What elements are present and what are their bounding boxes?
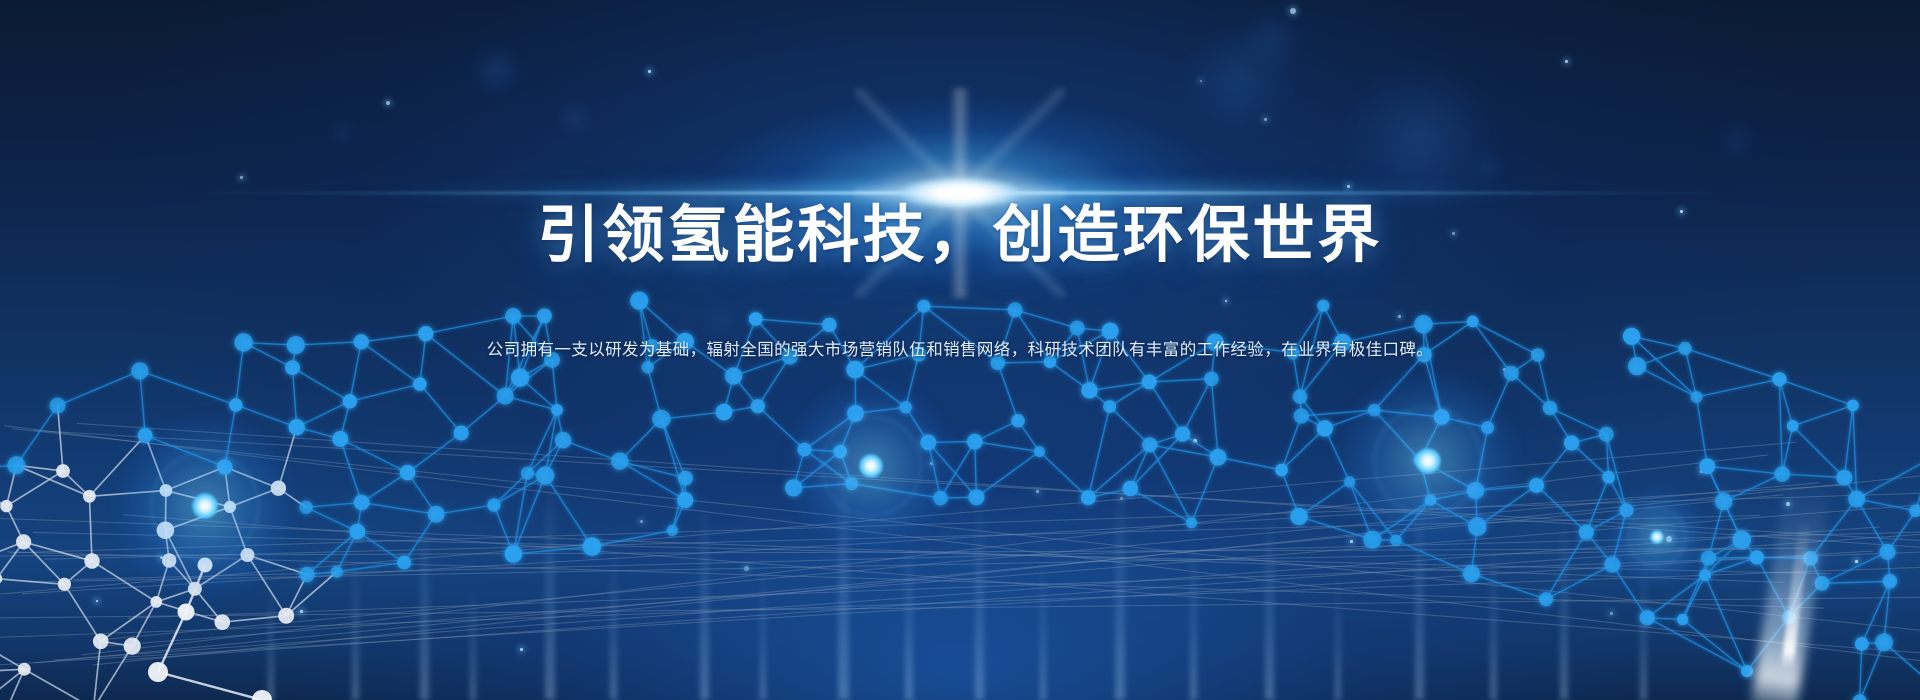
mesh-node xyxy=(1186,517,1197,528)
light-ray xyxy=(268,580,274,700)
mesh-node xyxy=(917,300,930,313)
mesh-line xyxy=(165,530,169,560)
mesh-line xyxy=(1192,457,1219,523)
mesh-line xyxy=(140,371,145,436)
mesh-node xyxy=(511,368,529,386)
mesh-line xyxy=(1857,499,1916,511)
mesh-line xyxy=(297,401,350,427)
mesh-line xyxy=(975,421,1018,442)
mesh-node xyxy=(1363,531,1381,549)
bokeh-blob xyxy=(560,104,590,134)
spark-dot xyxy=(1786,502,1790,506)
mesh-node xyxy=(271,481,286,496)
mesh-node xyxy=(1504,366,1519,381)
mesh-line xyxy=(1822,552,1888,583)
mesh-line xyxy=(661,419,685,478)
node-halo xyxy=(1608,488,1706,586)
mesh-line xyxy=(1546,532,1586,599)
node-ring xyxy=(1628,508,1687,567)
mesh-node xyxy=(847,405,864,422)
mesh-line xyxy=(101,602,157,641)
mesh-line xyxy=(278,427,296,488)
spark-dot xyxy=(1565,60,1568,63)
mesh-line xyxy=(1550,408,1572,443)
mesh-line xyxy=(1424,355,1442,417)
light-ray xyxy=(470,580,476,700)
mesh-node xyxy=(1210,449,1227,466)
mesh-line xyxy=(1050,362,1090,391)
mesh-node xyxy=(1602,471,1615,484)
mesh-node xyxy=(1175,426,1190,441)
mesh-line xyxy=(0,542,24,572)
mesh-long-line xyxy=(5,426,1920,668)
mesh-line xyxy=(1793,405,1853,426)
light-ray xyxy=(1490,545,1497,700)
mesh-line xyxy=(420,384,461,433)
mesh-line xyxy=(225,405,236,467)
mesh-line xyxy=(6,465,16,506)
mesh-line xyxy=(461,396,505,433)
mesh-line xyxy=(16,406,57,466)
mesh-line xyxy=(620,461,686,478)
mesh-line xyxy=(6,471,63,506)
mesh-node xyxy=(555,432,572,449)
mesh-line xyxy=(0,669,24,700)
mesh-line xyxy=(278,488,306,507)
bokeh-blob xyxy=(1180,22,1298,140)
mesh-line xyxy=(1423,321,1472,324)
mesh-line xyxy=(307,572,337,575)
mesh-long-line xyxy=(93,472,1920,665)
mesh-node xyxy=(920,435,936,451)
mesh-line xyxy=(1782,426,1793,474)
mesh-line xyxy=(1211,379,1218,457)
mesh-line xyxy=(1218,457,1282,470)
mesh-node xyxy=(157,522,175,540)
mesh-node xyxy=(124,638,141,655)
spark-dot xyxy=(744,566,749,571)
mesh-line xyxy=(724,376,734,412)
mesh-node xyxy=(224,501,236,513)
mesh-long-line xyxy=(9,491,1920,553)
mesh-long-line xyxy=(33,533,1832,574)
mesh-line xyxy=(1844,405,1853,477)
mesh-line xyxy=(1916,511,1920,532)
mesh-node xyxy=(933,491,948,506)
mesh-line xyxy=(158,612,186,672)
node-core xyxy=(1650,530,1664,544)
mesh-node xyxy=(1855,637,1869,651)
mesh-node xyxy=(1344,476,1355,487)
light-ray xyxy=(1040,560,1046,700)
light-rays xyxy=(0,400,1920,700)
mesh-node xyxy=(1677,614,1688,625)
mesh-line xyxy=(92,561,156,602)
mesh-node xyxy=(1142,375,1157,390)
mesh-line xyxy=(1150,445,1218,457)
mesh-line xyxy=(24,669,93,700)
mesh-line xyxy=(1471,527,1477,574)
flare-halo-streak xyxy=(370,185,1550,201)
node-halo xyxy=(1337,370,1519,552)
mesh-node xyxy=(7,456,25,474)
mesh-node xyxy=(1425,494,1437,506)
mesh-line xyxy=(1697,379,1780,397)
mesh-line xyxy=(156,561,169,602)
mesh-line xyxy=(1299,482,1350,517)
mesh-line xyxy=(1586,510,1626,532)
mesh-line xyxy=(1442,417,1488,428)
mesh-node xyxy=(397,556,411,570)
mesh-line xyxy=(1183,379,1212,434)
mesh-line xyxy=(1130,489,1191,523)
mesh-line xyxy=(1811,558,1823,583)
mesh-node xyxy=(497,388,514,405)
light-ray xyxy=(1640,560,1647,700)
mesh-line xyxy=(1742,540,1757,558)
node-core xyxy=(192,493,218,519)
mesh-line xyxy=(1088,445,1150,498)
spark-dot xyxy=(930,462,933,465)
mesh-long-line xyxy=(77,423,1920,549)
mesh-node xyxy=(1640,610,1655,625)
mesh-line xyxy=(545,410,557,476)
mesh-line xyxy=(165,491,166,531)
mesh-node xyxy=(967,434,983,450)
mesh-line xyxy=(1853,405,1857,499)
spark-dot xyxy=(1225,300,1227,302)
light-ray xyxy=(838,450,849,700)
mesh-line xyxy=(1088,489,1130,498)
mesh-node xyxy=(834,445,847,458)
mesh-line xyxy=(552,360,557,410)
mesh-node xyxy=(1750,550,1764,564)
mesh-line xyxy=(1183,434,1218,457)
mesh-line xyxy=(1088,407,1109,498)
mesh-line xyxy=(140,371,236,405)
mesh-node xyxy=(537,309,552,324)
light-ray xyxy=(1115,465,1125,700)
mesh-node xyxy=(1293,389,1307,403)
spark-dot xyxy=(1264,118,1267,121)
spark-dot xyxy=(1290,8,1296,14)
mesh-line xyxy=(297,427,341,439)
mesh-line xyxy=(852,484,941,499)
mesh-node xyxy=(725,367,742,384)
mesh-node xyxy=(749,312,763,326)
spark-dot xyxy=(1666,536,1672,542)
mesh-line xyxy=(1374,410,1442,417)
mesh-long-line xyxy=(7,552,1824,608)
mesh-line xyxy=(1705,558,1708,575)
mesh-node xyxy=(487,498,500,511)
mesh-line xyxy=(230,488,279,507)
mesh-node xyxy=(1715,493,1732,510)
glow-node-bottom-right xyxy=(1608,488,1706,586)
mesh-node xyxy=(1875,633,1893,651)
mesh-line xyxy=(362,473,408,503)
mesh-line xyxy=(513,476,545,555)
mesh-line xyxy=(158,672,262,700)
mesh-line xyxy=(563,440,620,461)
mesh-line xyxy=(1282,416,1302,470)
mesh-line xyxy=(756,319,830,325)
mesh-line xyxy=(1396,540,1471,573)
light-ray xyxy=(700,490,709,700)
mesh-node xyxy=(178,604,195,621)
mesh-line xyxy=(16,465,89,496)
mesh-line xyxy=(340,439,361,503)
mesh-node xyxy=(1414,315,1432,333)
mesh-line xyxy=(0,646,24,669)
mesh-long-line xyxy=(54,527,1880,660)
hero-banner: 引领氢能科技，创造环保世界 公司拥有一支以研发为基础，辐射全国的强大市场营销队伍… xyxy=(0,0,1920,700)
mesh-line xyxy=(24,542,92,561)
mesh-line xyxy=(520,360,552,378)
mesh-line xyxy=(1888,511,1916,552)
mesh-node xyxy=(505,308,521,324)
mesh-line xyxy=(648,367,662,419)
mesh-node xyxy=(583,537,601,555)
mesh-line xyxy=(1860,644,1862,700)
mesh-node xyxy=(240,548,254,562)
mesh-line xyxy=(1707,466,1741,540)
mesh-line xyxy=(1420,460,1476,491)
mesh-long-line xyxy=(73,530,1920,579)
spark-dot xyxy=(1350,540,1353,543)
mesh-line xyxy=(527,440,563,473)
mesh-line xyxy=(1299,517,1372,540)
mesh-line xyxy=(1110,382,1150,407)
mesh-line xyxy=(1606,434,1609,477)
mesh-line xyxy=(1709,502,1724,559)
mesh-node xyxy=(1883,574,1897,588)
light-ray xyxy=(610,540,617,700)
mesh-line xyxy=(1724,474,1783,502)
spark-dot xyxy=(1200,80,1202,82)
mesh-long-line xyxy=(123,515,1920,656)
mesh-line xyxy=(1884,642,1920,683)
mesh-line xyxy=(0,579,64,585)
mesh-node xyxy=(1803,551,1818,566)
mesh-node xyxy=(505,545,522,562)
mesh-node xyxy=(331,566,343,578)
bokeh-blob xyxy=(1236,5,1306,75)
mesh-node xyxy=(1599,427,1614,442)
mesh-line xyxy=(1018,421,1040,452)
mesh-line xyxy=(545,476,592,547)
mesh-line xyxy=(928,442,940,498)
mesh-node xyxy=(1837,470,1853,486)
mesh-node xyxy=(900,401,912,413)
mesh-node xyxy=(1732,531,1751,550)
mesh-line xyxy=(293,368,350,402)
mesh-node xyxy=(229,398,242,411)
mesh-line xyxy=(1793,426,1845,478)
mesh-line xyxy=(1537,485,1587,532)
mesh-line xyxy=(1586,532,1612,564)
mesh-line xyxy=(1282,470,1299,517)
mesh-node xyxy=(1290,508,1307,525)
mesh-node xyxy=(93,634,109,650)
mesh-line xyxy=(1420,460,1431,500)
mesh-line xyxy=(1862,642,1884,644)
mesh-line xyxy=(1888,552,1890,581)
mesh-line xyxy=(186,565,205,612)
mesh-line xyxy=(1779,379,1853,405)
mesh-line xyxy=(758,406,805,449)
glow-node-center xyxy=(787,382,955,550)
mesh-line xyxy=(350,384,420,401)
mesh-line xyxy=(1550,408,1606,434)
mesh-node xyxy=(84,553,99,568)
mesh-line xyxy=(0,669,24,700)
mesh-line xyxy=(620,461,685,500)
mesh-long-line xyxy=(12,429,1920,633)
mesh-line xyxy=(1430,500,1477,526)
mesh-line xyxy=(1705,557,1757,575)
mesh-node xyxy=(1700,459,1716,475)
mesh-line xyxy=(1301,410,1374,416)
mesh-node xyxy=(677,492,693,508)
mesh-node xyxy=(58,578,71,591)
mesh-line xyxy=(169,561,195,589)
mesh-line xyxy=(1372,540,1396,541)
mesh-long-line xyxy=(81,455,1768,655)
mesh-line xyxy=(225,467,279,488)
mesh-line xyxy=(804,413,855,449)
mesh-line xyxy=(1884,581,1890,642)
mesh-node xyxy=(667,525,678,536)
mesh-line xyxy=(1546,565,1612,600)
mesh-line xyxy=(1612,510,1626,564)
mesh-node xyxy=(252,690,272,700)
mesh-line xyxy=(236,405,297,427)
mesh-line xyxy=(1350,482,1396,540)
mesh-line xyxy=(1789,583,1822,617)
mesh-node xyxy=(454,426,469,441)
mesh-line xyxy=(794,452,841,488)
mesh-line xyxy=(1916,458,1920,511)
hero-subtitle: 公司拥有一支以研发为基础，辐射全国的强大市场营销队伍和销售网络，科研技术团队有丰… xyxy=(0,338,1920,362)
bokeh-blob xyxy=(470,44,522,96)
mesh-line xyxy=(505,360,552,396)
mesh-node xyxy=(822,318,836,332)
mesh-node xyxy=(1434,409,1450,425)
mesh-node xyxy=(1741,665,1753,677)
mesh-node xyxy=(751,399,765,413)
light-ray xyxy=(352,550,359,700)
mesh-node xyxy=(785,479,802,496)
mesh-line xyxy=(156,589,195,602)
mesh-node xyxy=(160,484,173,497)
bokeh-blob xyxy=(330,120,356,146)
mesh-line xyxy=(1705,575,1747,671)
mesh-long-line xyxy=(34,431,1920,542)
mesh-node xyxy=(1604,557,1620,573)
mesh-node xyxy=(611,453,628,470)
mesh-line xyxy=(1538,355,1550,408)
mesh-line xyxy=(1537,443,1572,485)
mesh-line xyxy=(340,439,407,473)
mesh-line xyxy=(592,530,672,546)
mesh-long-line xyxy=(0,518,1785,583)
mesh-line xyxy=(1779,379,1782,474)
mesh-line xyxy=(0,669,24,672)
mesh-line xyxy=(804,450,840,452)
mesh-node xyxy=(332,431,348,447)
node-halo xyxy=(114,415,296,597)
mesh-line xyxy=(408,473,437,515)
mesh-line xyxy=(557,410,563,440)
mesh-line xyxy=(672,500,685,530)
mesh-line xyxy=(1637,366,1696,397)
mesh-long-line xyxy=(98,483,1819,640)
mesh-line xyxy=(93,646,132,700)
mesh-line xyxy=(1707,466,1782,474)
mesh-line xyxy=(724,406,758,412)
mesh-node xyxy=(289,419,305,435)
mesh-node xyxy=(0,500,12,512)
mesh-line xyxy=(639,301,685,342)
mesh-node xyxy=(1103,400,1116,413)
mesh-line xyxy=(1757,557,1811,558)
mesh-line xyxy=(1511,373,1550,408)
mesh-long-line xyxy=(0,597,1920,618)
mesh-line xyxy=(505,378,520,397)
mesh-line xyxy=(928,442,976,497)
mesh-line xyxy=(494,476,545,506)
mesh-node xyxy=(215,614,231,630)
mesh-node xyxy=(1909,505,1920,518)
light-ray xyxy=(1265,500,1274,700)
mesh-line xyxy=(940,497,976,498)
mesh-line xyxy=(165,530,195,589)
mesh-node xyxy=(198,558,213,573)
mesh-node xyxy=(1848,491,1865,508)
mesh-line xyxy=(1325,410,1374,428)
mesh-line xyxy=(16,465,63,471)
mesh-line xyxy=(1396,500,1430,540)
mesh-line xyxy=(1822,581,1890,583)
mesh-node xyxy=(83,490,96,503)
mesh-line xyxy=(222,616,286,623)
spark-dot xyxy=(96,600,98,602)
mesh-line xyxy=(940,442,974,499)
spark-dot xyxy=(640,520,643,523)
mesh-node xyxy=(1317,300,1329,312)
mesh-line xyxy=(1857,458,1920,499)
mesh-line xyxy=(1724,502,1742,540)
mesh-line xyxy=(975,442,977,498)
mesh-line xyxy=(1130,434,1182,488)
mesh-line xyxy=(247,555,286,616)
mesh-node xyxy=(1701,550,1716,565)
mesh-line xyxy=(1586,477,1608,532)
light-ray xyxy=(1560,515,1568,700)
mesh-line xyxy=(804,450,851,484)
mesh-node xyxy=(299,501,312,514)
mesh-long-line xyxy=(22,485,1846,594)
mesh-line xyxy=(306,503,362,508)
mesh-line xyxy=(1471,574,1546,600)
node-core xyxy=(859,454,883,478)
mesh-long-line xyxy=(0,567,1920,637)
mesh-line xyxy=(906,354,919,407)
mesh-node xyxy=(0,573,2,584)
mesh-line xyxy=(58,371,140,406)
mesh-line xyxy=(1476,485,1537,490)
